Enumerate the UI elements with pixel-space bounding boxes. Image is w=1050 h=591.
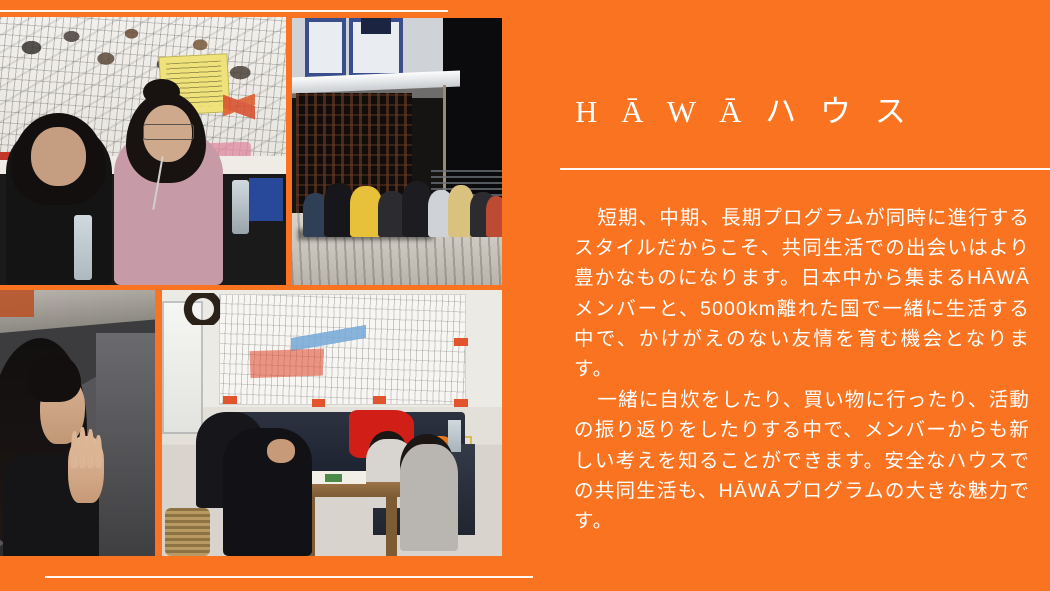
slide-canvas: H Ā W Ā ハ ウ ス 短期、中期、長期プログラムが同時に進行するスタイルだ… (0, 0, 1050, 591)
bottom-divider-line (45, 576, 533, 578)
title-divider-line (560, 168, 1050, 170)
body-paragraph-2: 一緒に自炊をしたり、買い物に行ったり、活動の振り返りをしたりする中で、メンバーか… (574, 385, 1030, 536)
page-title: H Ā W Ā ハ ウ ス (575, 92, 914, 132)
photo-workshop (162, 290, 502, 556)
body-copy: 短期、中期、長期プログラムが同時に進行するスタイルだからこそ、共同生活での出会い… (574, 203, 1030, 536)
photo-portrait (0, 290, 155, 556)
photo-interview (0, 17, 286, 285)
body-paragraph-1: 短期、中期、長期プログラムが同時に進行するスタイルだからこそ、共同生活での出会い… (574, 203, 1030, 384)
photo-night-group (292, 18, 502, 285)
top-divider-line (0, 10, 448, 12)
